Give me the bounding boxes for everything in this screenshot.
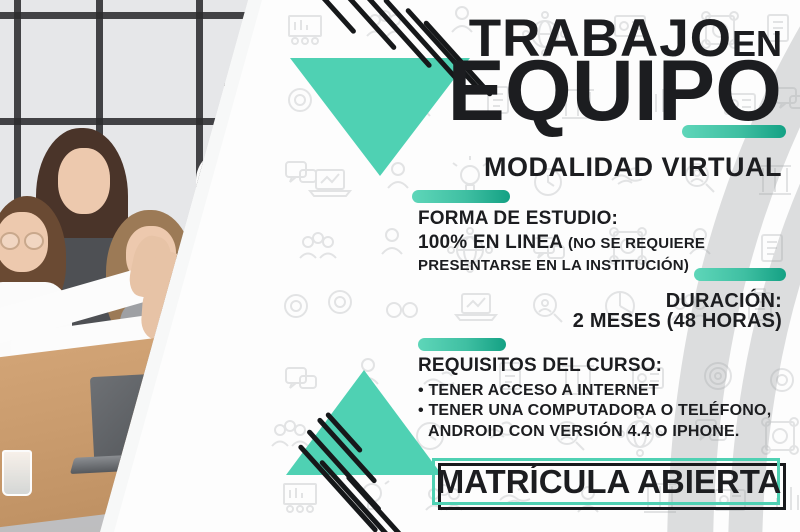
diagonal-stripes-top [296, 0, 456, 116]
poster-root: TRABAJOEN EQUIPO MODALIDAD VIRTUAL FORMA… [0, 0, 800, 532]
headline-line-2: EQUIPO [447, 48, 782, 134]
cta-label[interactable]: MATRÍCULA ABIERTA [432, 458, 786, 505]
water-glass [2, 450, 32, 496]
requirements-heading: REQUISITOS DEL CURSO: [418, 355, 662, 377]
study-mode-value: 100% EN LINEA (NO SE REQUIERE PRESENTARS… [418, 232, 705, 277]
requirement-item: • TENER UNA COMPUTADORA O TELÉFONO, [418, 402, 771, 419]
headline-subtitle: MODALIDAD VIRTUAL [484, 152, 782, 183]
requirement-item: • TENER ACCESO A INTERNET [418, 382, 659, 399]
eyeglasses [0, 232, 20, 250]
person-face [58, 148, 110, 214]
accent-pill [412, 190, 510, 203]
duration-value: 2 MESES (48 HORAS) [573, 310, 782, 333]
accent-pill [418, 338, 506, 351]
study-mode-heading: FORMA DE ESTUDIO: [418, 208, 618, 230]
requirements-list: • TENER ACCESO A INTERNET • TENER UNA CO… [418, 381, 771, 442]
eyeglasses [24, 232, 44, 250]
accent-pill [694, 268, 786, 281]
study-mode-main: 100% EN LINEA [418, 232, 562, 253]
study-mode-note-2: PRESENTARSE EN LA INSTITUCIÓN) [418, 257, 689, 274]
requirement-item: ANDROID CON VERSIÓN 4.4 O IPHONE. [418, 422, 771, 442]
study-mode-note-1: (NO SE REQUIERE [568, 235, 705, 252]
